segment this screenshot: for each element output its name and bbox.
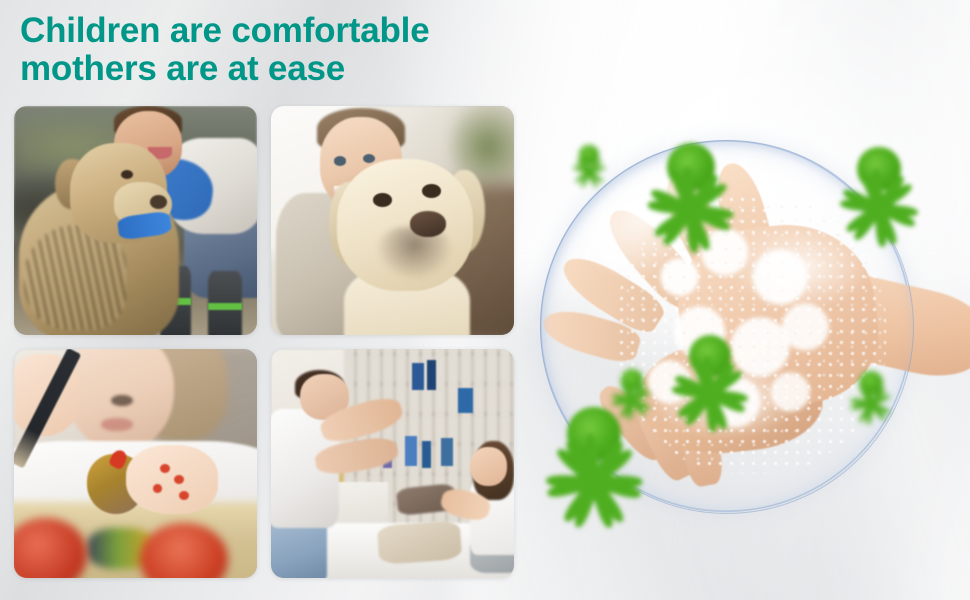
- photo-card-boy-cream-dog: [271, 106, 514, 335]
- headline-line-1: Children are comfortable: [20, 12, 620, 50]
- photo-scene: [14, 106, 257, 335]
- photo-scene: [271, 349, 514, 578]
- germ-bottom-left: [546, 386, 642, 482]
- photo-card-pillow-fight: [271, 349, 514, 578]
- photo-card-child-painting: [14, 349, 257, 578]
- photo-scene: [271, 106, 514, 335]
- promo-banner: Children are comfortable mothers are at …: [0, 0, 970, 600]
- germ-top-left-small: [572, 138, 606, 172]
- handwashing-illustration: [520, 110, 970, 590]
- photo-scene: [14, 349, 257, 578]
- photo-card-boy-muddy-dog: [14, 106, 257, 335]
- germ-top-right: [840, 130, 918, 208]
- photo-grid: [14, 106, 514, 584]
- germ-center-low: [672, 318, 748, 394]
- germ-right-low: [850, 362, 892, 404]
- headline: Children are comfortable mothers are at …: [20, 12, 620, 88]
- headline-line-2: mothers are at ease: [20, 50, 620, 88]
- germ-top-center: [648, 124, 734, 210]
